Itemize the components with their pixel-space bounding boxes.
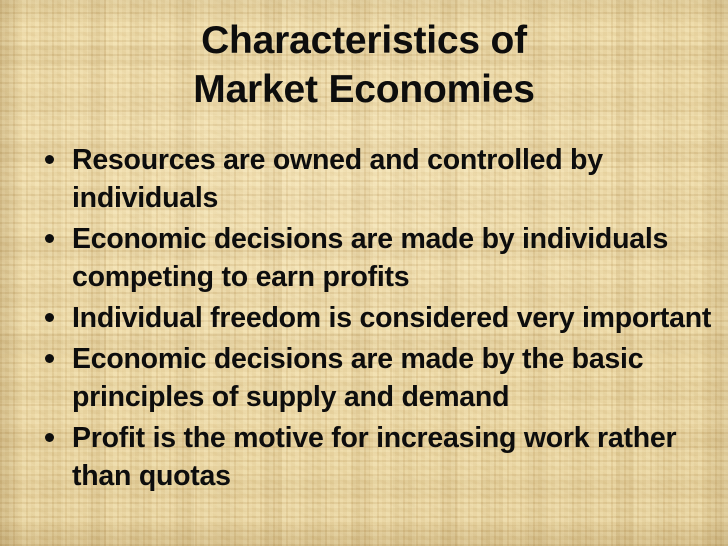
bullet-item-label: Profit is the motive for increasing work… (72, 419, 716, 495)
bullet-list: Resources are owned and controlled by in… (38, 141, 716, 498)
bullet-item-label: Economic decisions are made by the basic… (72, 340, 716, 416)
bullet-item-1: Resources are owned and controlled by in… (38, 141, 716, 217)
bullet-dot-icon (45, 234, 54, 243)
bullet-item-label: Resources are owned and controlled by in… (72, 141, 716, 217)
bullet-dot-icon (45, 313, 54, 322)
slide-title: Characteristics of Market Economies (0, 16, 728, 114)
bullet-item-3: Individual freedom is considered very im… (38, 299, 716, 337)
slide-title-line-1: Characteristics of (0, 16, 728, 65)
bullet-dot-icon (45, 354, 54, 363)
bullet-item-5: Profit is the motive for increasing work… (38, 419, 716, 495)
bullet-item-label: Individual freedom is considered very im… (72, 299, 716, 337)
bullet-dot-icon (45, 433, 54, 442)
bullet-item-4: Economic decisions are made by the basic… (38, 340, 716, 416)
bullet-item-2: Economic decisions are made by individua… (38, 220, 716, 296)
bullet-dot-icon (45, 155, 54, 164)
slide-canvas: Characteristics of Market Economies Reso… (0, 0, 728, 546)
slide-title-line-2: Market Economies (0, 65, 728, 114)
slide-content: Characteristics of Market Economies Reso… (0, 0, 728, 546)
bullet-item-label: Economic decisions are made by individua… (72, 220, 716, 296)
